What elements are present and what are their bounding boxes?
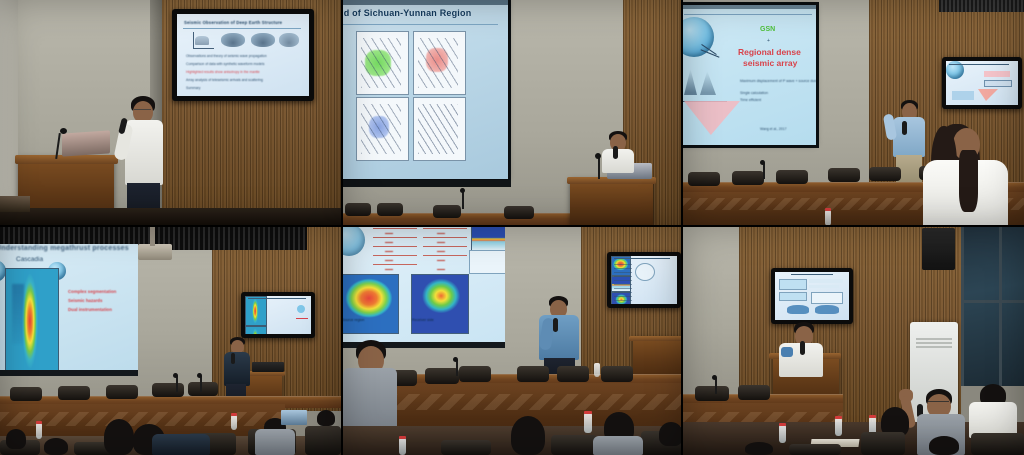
projection-screen: Understanding megathrust processes Casca… <box>0 244 138 372</box>
tomography-panel <box>471 226 505 252</box>
desk-microphone <box>200 376 202 392</box>
slide-bullet: Time efficient <box>740 98 761 102</box>
tomography-label: Receiver side <box>412 318 434 322</box>
bottle-cap <box>825 208 831 211</box>
attendee-hair-strand <box>959 150 978 212</box>
audience-torso <box>152 434 210 455</box>
speaker-torso <box>602 149 634 173</box>
podium-laptop <box>62 130 110 156</box>
panel-divider-vertical <box>341 0 343 455</box>
tomography-label: Source region <box>342 318 364 322</box>
wall-tv-frame <box>607 252 681 308</box>
audience-seat <box>305 426 341 455</box>
desk-microphone-head <box>712 375 717 380</box>
tv-slide-line: Summary <box>186 86 201 90</box>
bottle-cap <box>869 415 876 418</box>
slide-bullet: Maximum displacement of P wave + source … <box>740 79 816 83</box>
audience-seat <box>551 435 597 455</box>
window-frame <box>999 226 1002 386</box>
desk-microphone-head <box>460 188 465 193</box>
chair <box>58 386 90 400</box>
panel-top-right: GSN + Regional dense seismic array Maxim… <box>683 0 1024 226</box>
tv-slide-title: Seismic Observation of Deep Earth Struct… <box>184 20 282 25</box>
water-bottle <box>584 413 592 433</box>
handheld-microphone <box>553 318 558 332</box>
triangle-diagram <box>684 101 740 135</box>
desk-microphone <box>763 163 765 179</box>
chair <box>504 206 534 219</box>
slide-red-bullet: Complex segmentation <box>68 289 116 294</box>
slide-red-bullet: Seismic hazards <box>68 298 102 303</box>
waveform-column <box>373 226 417 270</box>
speaker-glasses <box>134 109 151 113</box>
slide-red-bullet: Dual instrumentation <box>68 307 112 312</box>
chair <box>695 386 729 401</box>
map-outline <box>469 250 505 274</box>
screen-bottom-bar <box>0 370 138 376</box>
slide-credit: Wang et al., 2017 <box>760 127 786 131</box>
audience-torso <box>255 429 295 455</box>
bottle-cap <box>399 436 406 439</box>
speaker-torso <box>224 352 250 386</box>
slide-figure-label: Cascadia <box>16 256 43 263</box>
chair <box>10 387 42 401</box>
chair <box>377 203 403 216</box>
window-frame <box>961 300 1024 303</box>
bottle-cap <box>779 423 786 426</box>
chair <box>732 171 764 185</box>
panel-bottom-left: Understanding megathrust processes Casca… <box>0 226 341 455</box>
podium <box>570 180 653 226</box>
map-tile <box>356 31 409 95</box>
chair <box>459 366 491 382</box>
waveform-column <box>423 226 467 270</box>
audience-seat <box>789 444 841 455</box>
panel-bottom-right <box>683 226 1024 455</box>
photo-collage: Seismic Observation of Deep Earth Struct… <box>0 0 1024 455</box>
gooseneck-mic-head <box>595 153 601 159</box>
tv-slide-line: Comparison of data with synthetic wavefo… <box>186 62 264 66</box>
chair <box>517 366 549 382</box>
ceiling-projector-mount <box>138 244 172 260</box>
handheld-microphone <box>231 353 235 364</box>
slide-title: nd of Sichuan-Yunnan Region <box>341 8 471 18</box>
bottle-cap <box>584 411 592 414</box>
slide-heading-green: GSN <box>760 26 775 33</box>
wall-tv-frame <box>942 57 1022 109</box>
window-frame <box>961 226 964 386</box>
slide-heading-red-line2: seismic array <box>743 58 797 68</box>
audience-head <box>659 422 683 446</box>
map-tile <box>413 97 466 161</box>
chair <box>106 385 138 399</box>
desk-microphone <box>456 360 458 376</box>
tv-slide-line: Array analysis of teleseismic arrivals a… <box>186 78 263 82</box>
desk-microphone-head <box>173 373 178 378</box>
audience-head <box>44 438 68 455</box>
handheld-microphone <box>800 341 805 355</box>
panel-top-center: nd of Sichuan-Yunnan Region <box>341 0 683 226</box>
desk-microphone-head <box>453 357 458 362</box>
speaker-shoulder-patch <box>781 347 793 357</box>
audience-head <box>6 429 26 449</box>
tv-frame: Seismic Observation of Deep Earth Struct… <box>172 9 314 101</box>
podium-top <box>629 336 683 341</box>
gooseneck-mic-head <box>60 128 67 134</box>
chair <box>345 203 371 216</box>
table-trim <box>0 412 285 426</box>
gooseneck-mic-stand <box>598 157 600 179</box>
desk-microphone-head <box>760 160 765 165</box>
desk-microphone <box>715 378 717 394</box>
chair <box>738 385 770 400</box>
tv-slide-line: Observations and theory of seismic wave … <box>186 54 267 58</box>
bottle-cap <box>36 421 42 424</box>
audience-head <box>104 419 134 455</box>
projection-screen: Source region Receiver side <box>341 226 505 344</box>
audience-seat <box>861 432 905 455</box>
map-tile <box>356 97 409 161</box>
chair <box>425 368 459 384</box>
bottle-cap <box>231 413 237 416</box>
panel-top-left: Seismic Observation of Deep Earth Struct… <box>0 0 341 226</box>
water-bottle <box>825 210 831 226</box>
audience-head <box>317 410 335 426</box>
speaker-torso <box>893 117 925 157</box>
handheld-microphone <box>613 146 618 159</box>
map-tile <box>413 31 466 95</box>
water-bottle <box>779 425 786 443</box>
slide-plus: + <box>767 38 770 44</box>
water-bottle <box>835 418 842 436</box>
water-bottle <box>399 438 406 455</box>
ceiling-speaker <box>922 228 955 270</box>
desk-side-object <box>0 196 30 212</box>
audience-seat <box>971 433 1024 455</box>
panel-divider-horizontal <box>0 225 1024 227</box>
chair <box>152 383 184 397</box>
chair <box>776 170 808 184</box>
questioner-glasses <box>928 401 949 405</box>
projection-screen-frame: GSN + Regional dense seismic array Maxim… <box>683 2 819 148</box>
wall-tv-frame <box>771 268 853 324</box>
chair <box>828 168 860 182</box>
audience-laptop <box>281 410 307 425</box>
water-bottle <box>594 363 600 377</box>
handheld-microphone <box>902 121 907 135</box>
tv-slide-line-highlight: Highlighted results show anisotropy in t… <box>186 70 260 74</box>
chair <box>188 382 218 396</box>
audience-torso <box>593 436 643 455</box>
ceiling-vent <box>939 0 1024 12</box>
audience-seat <box>441 440 491 455</box>
screen-bottom-bar <box>341 180 511 187</box>
water-bottle <box>231 415 237 430</box>
audience-head <box>511 416 545 455</box>
globe-diagram <box>341 226 365 256</box>
ac-vent <box>916 338 952 348</box>
projection-screen-frame: nd of Sichuan-Yunnan Region <box>341 0 511 182</box>
bottle-cap <box>835 416 842 419</box>
panel-divider-vertical <box>681 0 683 455</box>
wall-tv-frame <box>241 292 315 338</box>
audience-head <box>929 436 959 455</box>
window <box>961 226 1024 386</box>
chair <box>557 366 589 382</box>
slide-heading-red-line1: Regional dense <box>738 47 801 57</box>
desk-microphone <box>462 191 464 209</box>
front-desk-strip <box>0 208 341 226</box>
chair <box>869 167 901 181</box>
desk-microphone <box>176 376 178 392</box>
audience-head <box>745 442 773 455</box>
panel-bottom-center: Source region Receiver side <box>341 226 683 455</box>
slide-bullet: Single calculation <box>740 91 768 95</box>
chair <box>601 366 633 382</box>
podium-laptop <box>252 362 284 372</box>
chair <box>433 205 461 218</box>
water-bottle <box>36 423 42 439</box>
desk-microphone-head <box>197 373 202 378</box>
chair <box>688 172 720 186</box>
tomography-panel <box>341 274 399 334</box>
projector-arm <box>150 226 155 246</box>
tomography-panel <box>411 274 469 334</box>
slide-title: Understanding megathrust processes <box>0 245 129 252</box>
